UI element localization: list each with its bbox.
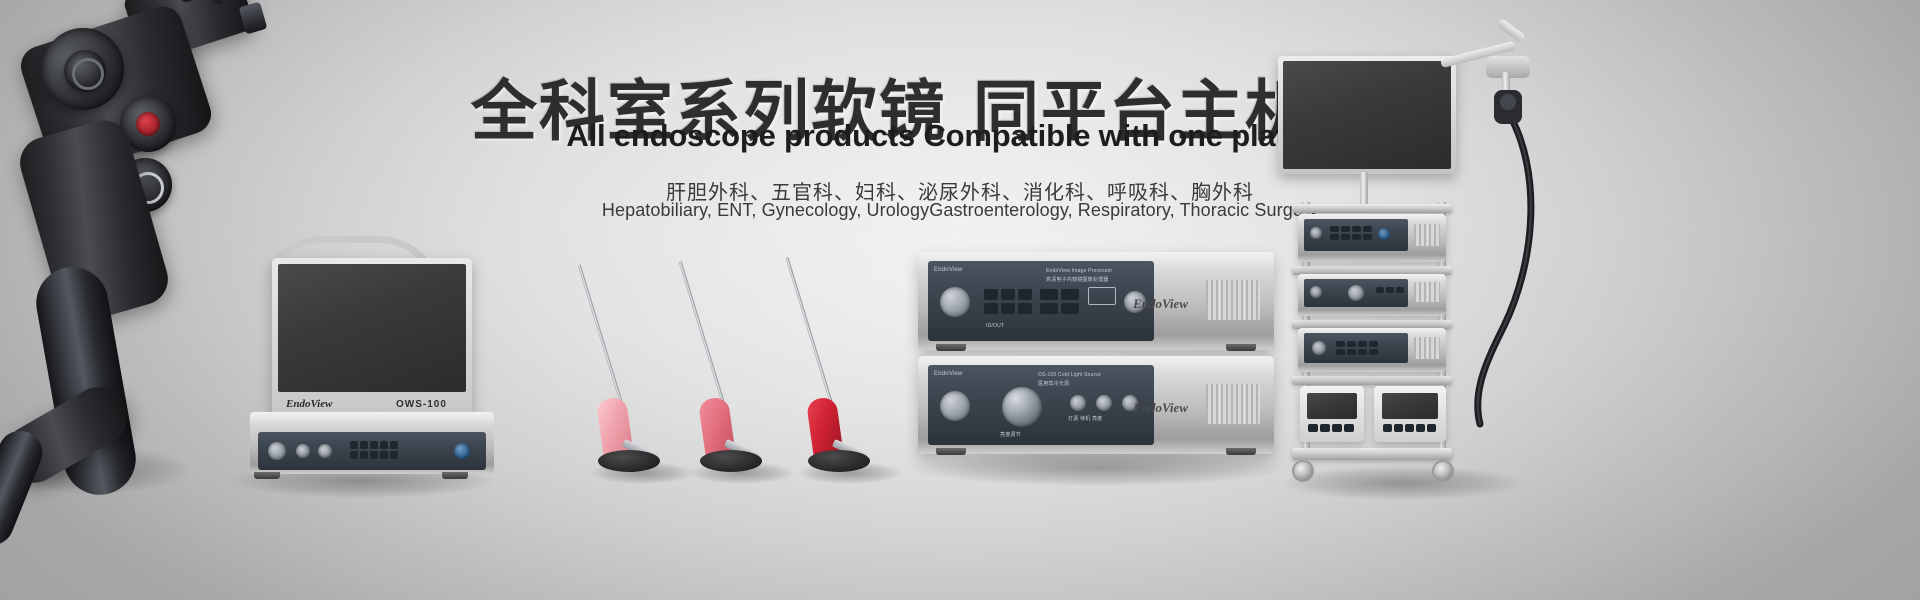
processor-stack-shadow xyxy=(912,450,1284,486)
processor-bottom-brand: EndoView xyxy=(1133,400,1188,416)
cart-scope-cable xyxy=(1290,20,1570,490)
instrument-1-shaft xyxy=(578,264,625,410)
unit-keypad[interactable] xyxy=(350,441,398,459)
processor-bottom-foot-right xyxy=(1226,448,1256,455)
processor-bottom-foot-left xyxy=(936,448,966,455)
processor-bottom-brightness-knob[interactable] xyxy=(1002,387,1042,427)
processor-top-panel: EndoView EndoView Image Processor 高清电子内窥… xyxy=(928,261,1154,341)
monitor-bezel: EndoView OWS-100 xyxy=(272,258,472,420)
processor-bottom-button-1[interactable] xyxy=(1070,395,1086,411)
processor-bottom-title-cn: 医用氙冷光源 xyxy=(1038,380,1069,387)
processor-top-main-dial[interactable] xyxy=(940,287,970,317)
processor-unit-bottom: EndoView OS-100 Cold Light Source 医用氙冷光源… xyxy=(918,356,1274,454)
scope-handle-knob xyxy=(1500,94,1516,110)
unit-foot-left xyxy=(254,472,280,479)
unit-control-panel xyxy=(258,432,486,470)
instrument-3-base xyxy=(808,450,870,472)
instrument-2-base xyxy=(700,450,762,472)
unit-dial-1[interactable] xyxy=(268,442,286,460)
endoscope-knob-ring xyxy=(72,58,104,90)
processor-top-title-en: EndoView Image Processor xyxy=(1046,268,1112,274)
processor-bottom-knob-label: 亮度调节 xyxy=(1000,431,1021,438)
processor-bottom-panel: EndoView OS-100 Cold Light Source 医用氙冷光源… xyxy=(928,365,1154,445)
processor-bottom-title-en: OS-100 Cold Light Source xyxy=(1038,372,1101,378)
processor-top-port-label: ID/OUT xyxy=(986,323,1004,329)
monitor-model-label: OWS-100 xyxy=(396,399,447,410)
monitor-brand-label: EndoView xyxy=(286,398,332,410)
processor-stack: EndoView EndoView Image Processor 高清电子内窥… xyxy=(918,252,1274,464)
processor-bottom-button-2[interactable] xyxy=(1096,395,1112,411)
banner-root: 全科室系列软镜同平台主机兼容 All endoscope products Co… xyxy=(0,0,1920,600)
unit-foot-right xyxy=(442,472,468,479)
instrument-3 xyxy=(786,246,926,486)
unit-power-indicator xyxy=(454,443,470,459)
monitor-screen xyxy=(278,264,466,392)
processor-top-brandmark: EndoView xyxy=(934,267,963,273)
processor-top-keypad[interactable] xyxy=(984,289,1032,314)
processor-top-brand: EndoView xyxy=(1133,296,1188,312)
processor-bottom-main-dial[interactable] xyxy=(940,391,970,421)
unit-dial-3[interactable] xyxy=(318,444,332,458)
processor-bottom-button-labels: 灯源 待机 亮度 xyxy=(1068,415,1102,422)
processor-top-button-group[interactable] xyxy=(1040,289,1079,314)
processor-top-foot-left xyxy=(936,344,966,351)
processor-top-title-cn: 高清电子内窥镜图像处理器 xyxy=(1046,276,1108,283)
scope-cable-path xyxy=(1478,112,1531,424)
processor-top-usb-port xyxy=(1088,287,1116,305)
unit-dial-2[interactable] xyxy=(296,444,310,458)
endoscopy-cart xyxy=(1290,20,1570,490)
processor-unit-top: EndoView EndoView Image Processor 高清电子内窥… xyxy=(918,252,1274,350)
instrument-2-shaft xyxy=(678,260,726,410)
instrument-1-base xyxy=(598,450,660,472)
instrument-3-shaft xyxy=(785,257,835,411)
processor-bottom-brandmark: EndoView xyxy=(934,371,963,377)
processor-top-foot-right xyxy=(1226,344,1256,351)
processor-bottom-vent xyxy=(1206,384,1260,424)
monitor-processor-unit: EndoView OWS-100 xyxy=(228,236,496,486)
processor-top-vent xyxy=(1206,280,1260,320)
endoscope-suction-valve-red xyxy=(136,112,160,136)
